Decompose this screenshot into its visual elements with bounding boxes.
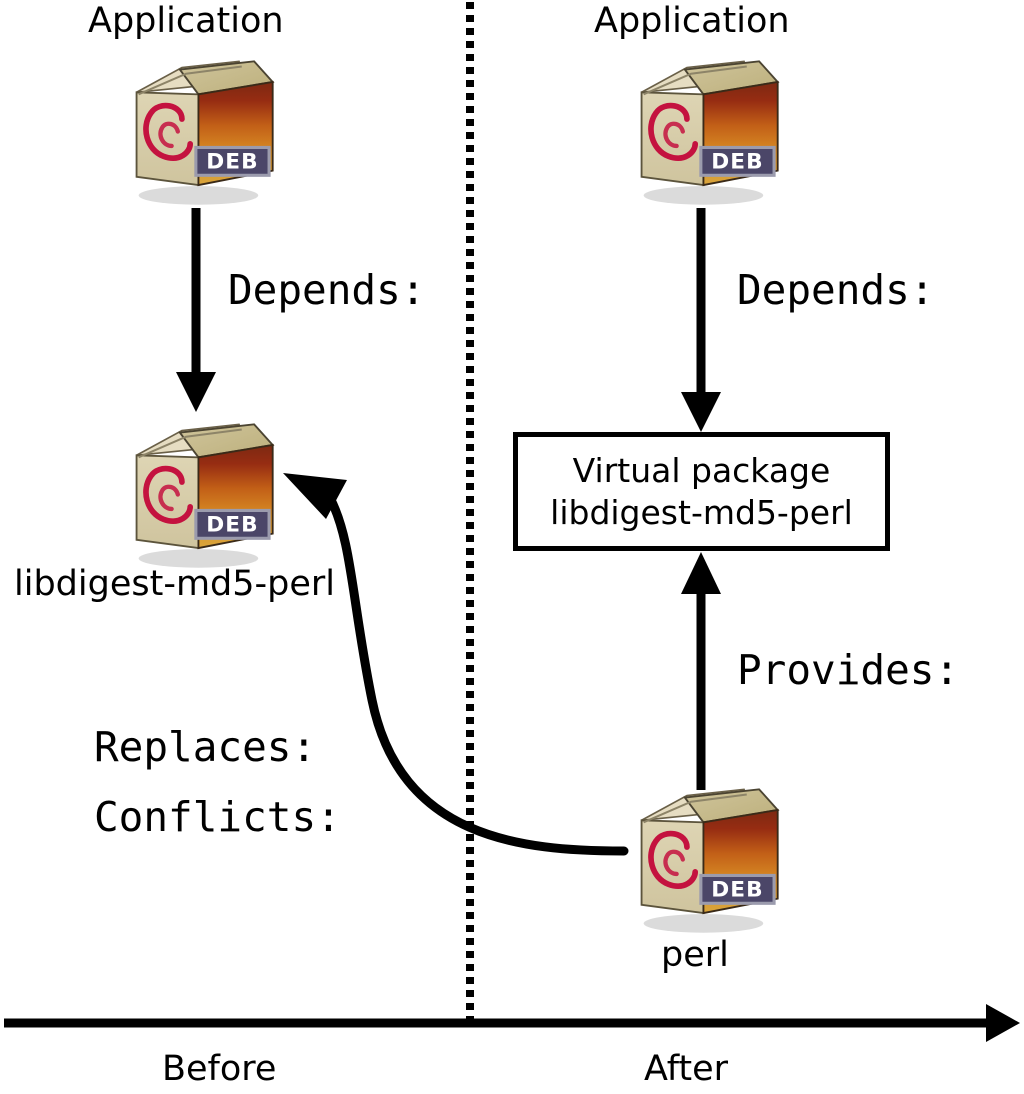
label-application-before: Application [88, 4, 284, 39]
package-icon-libdigest-md5-perl [137, 424, 273, 567]
label-application-after: Application [594, 4, 790, 39]
virtual-package-line1: Virtual package [573, 450, 831, 491]
provides-arrow [681, 552, 721, 790]
label-perl-package: perl [661, 938, 729, 973]
depends-arrow-after [681, 208, 721, 432]
label-provides: Provides: [737, 650, 959, 691]
virtual-package-box: Virtual package libdigest-md5-perl [513, 432, 890, 551]
package-icon-perl [642, 789, 778, 932]
time-axis [4, 1004, 1020, 1042]
label-replaces: Replaces: [94, 727, 316, 768]
label-conflicts: Conflicts: [94, 797, 341, 838]
virtual-package-line2: libdigest-md5-perl [550, 492, 853, 533]
package-icon-application-after [642, 61, 778, 204]
label-depends-before: Depends: [228, 270, 425, 311]
diagram-canvas: DEB [0, 0, 1024, 1094]
label-libdigest-md5-perl-package: libdigest-md5-perl [14, 567, 335, 602]
depends-arrow-before [176, 208, 216, 412]
label-depends-after: Depends: [737, 270, 934, 311]
label-after: After [644, 1052, 728, 1087]
label-before: Before [162, 1052, 276, 1087]
package-icon-application-before [137, 61, 273, 204]
